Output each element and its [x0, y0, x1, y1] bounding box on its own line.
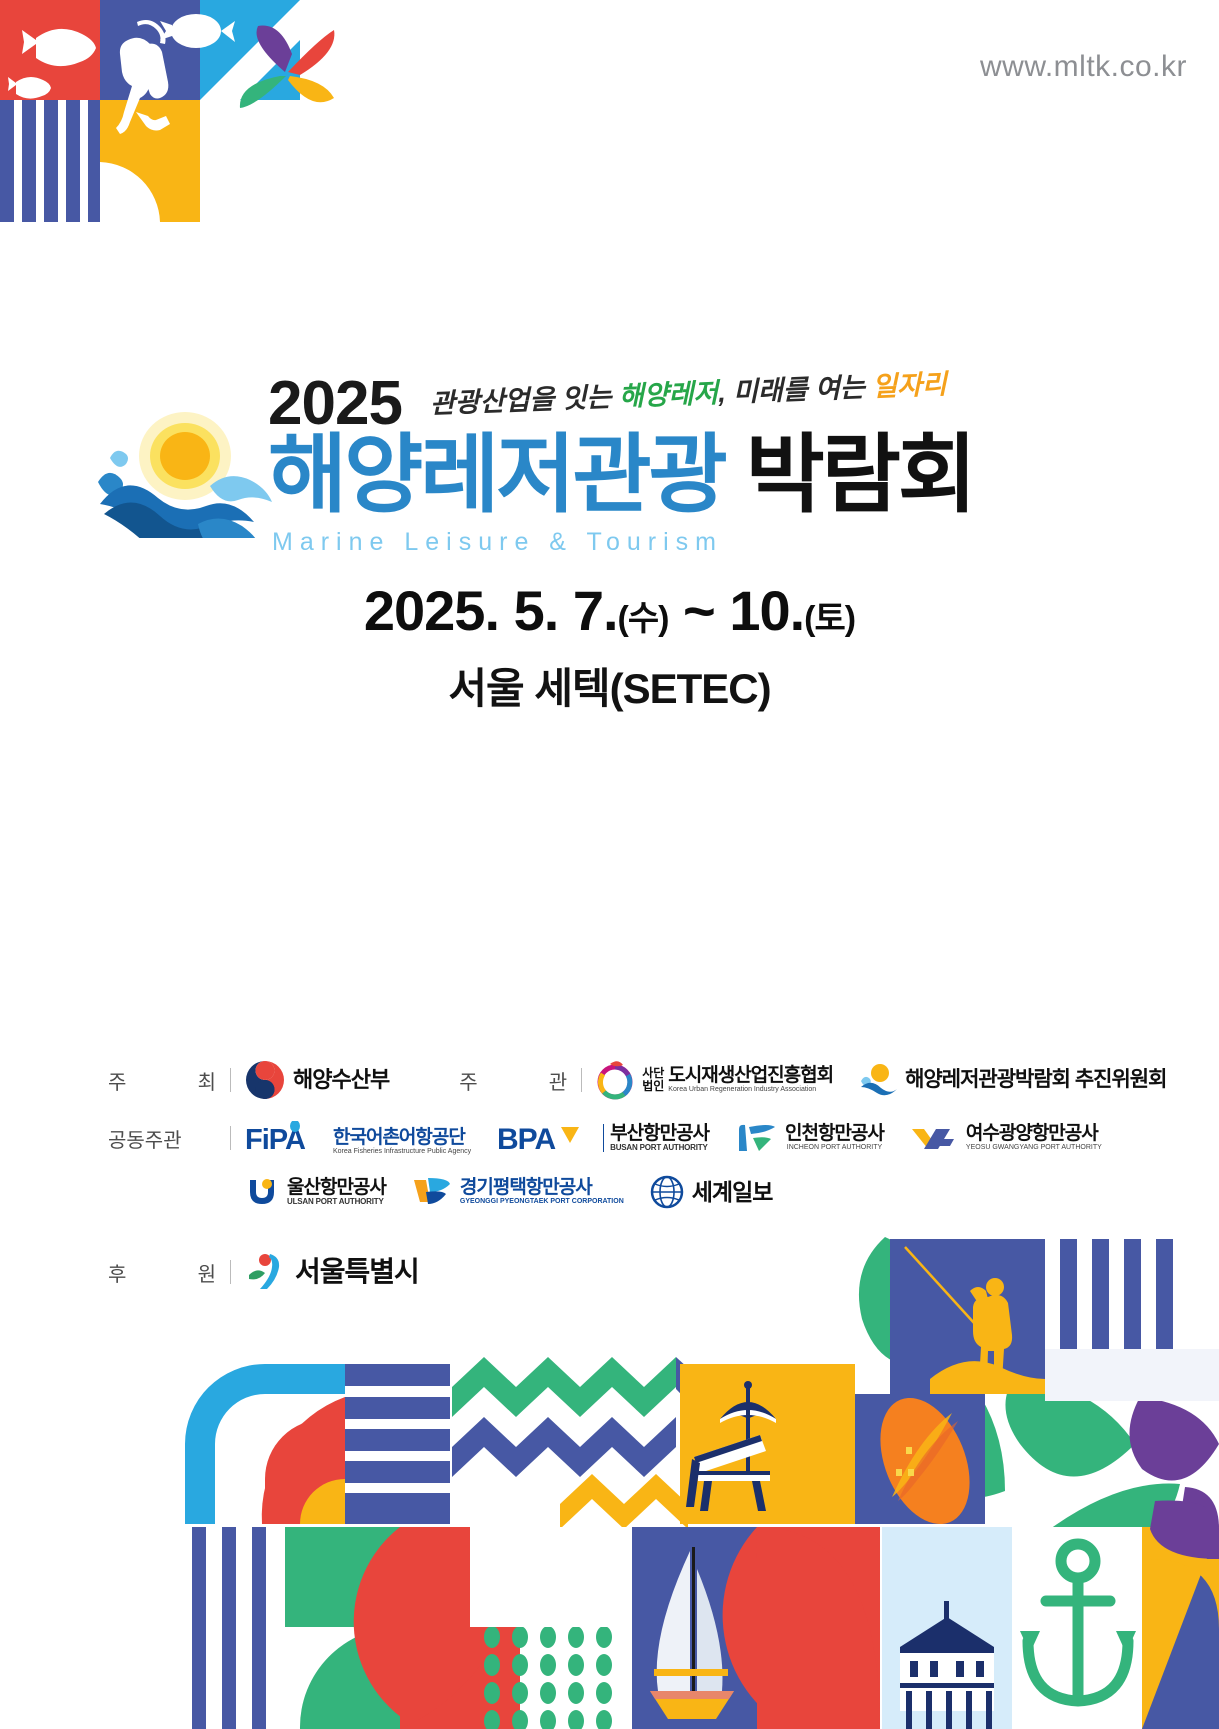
logo-sublabel: YEOSU GWANGYANG PORT AUTHORITY: [966, 1144, 1102, 1151]
logo-label: 도시재생산업진흥협회: [668, 1066, 833, 1086]
logo-label: 해양레저관광박람회 추진위원회: [905, 1069, 1166, 1091]
fipa-icon: FiPA: [245, 1121, 323, 1155]
top-decoration: [0, 0, 340, 222]
logo-label: 해양수산부: [293, 1068, 389, 1091]
swirl-icon: [596, 1060, 634, 1100]
logo-label: 경기평택항만공사: [460, 1178, 624, 1198]
role-divider: [230, 1068, 231, 1092]
logo-yeosu-gwangyang-port-authority[interactable]: 여수광양항만공사 YEOSU GWANGYANG PORT AUTHORITY: [910, 1123, 1102, 1153]
role-divider: [581, 1068, 582, 1092]
logo-fipa[interactable]: FiPA 한국어촌어항공단 Korea Fisheries Infrastruc…: [245, 1121, 471, 1155]
logo-tagline: 관광산업을 잇는 해양레저, 미래를 여는 일자리: [429, 362, 947, 421]
title-primary: 해양레저관광: [268, 427, 725, 523]
logo-label: 세계일보: [692, 1180, 773, 1204]
date-start-weekday: (수): [618, 600, 669, 638]
bottom-decoration: [0, 1229, 1219, 1729]
date-start: 2025. 5. 7.: [364, 579, 618, 642]
date-range-tilde: ~: [668, 579, 729, 642]
website-url[interactable]: www.mltk.co.kr: [980, 50, 1187, 84]
upa-icon: [245, 1176, 279, 1208]
title-secondary: 박람회: [725, 427, 974, 523]
role-label-co-organizer: 공동주관: [108, 1124, 216, 1153]
logo-label: 울산항만공사: [287, 1178, 386, 1198]
taegeuk-icon: [245, 1060, 285, 1100]
logo-label: 인천항만공사: [785, 1124, 884, 1144]
bottom-decoration-svg: [0, 1229, 1219, 1729]
logo-gyeonggi-pyeongtaek-port-corporation[interactable]: 경기평택항만공사 GYEONGGI PYEONGTAEK PORT CORPOR…: [412, 1176, 624, 1208]
bpa-icon: BPA: [497, 1121, 589, 1155]
svg-text:BPA: BPA: [497, 1123, 555, 1155]
role-label-organizer: 주관: [459, 1066, 567, 1095]
logo-prefix: 사단법인: [642, 1067, 664, 1092]
role-divider-spacer: [230, 1180, 231, 1204]
logo-sublabel: BUSAN PORT AUTHORITY: [610, 1144, 709, 1152]
logo-label: 여수광양항만공사: [966, 1124, 1102, 1144]
sun-wave-icon: [859, 1063, 897, 1097]
logo-label: 부산항만공사: [610, 1124, 709, 1144]
logo-sublabel: Korea Fisheries Infrastructure Public Ag…: [333, 1148, 471, 1155]
tagline-highlight-orange: 일자리: [872, 369, 948, 402]
logo-sublabel: GYEONGGI PYEONGTAEK PORT CORPORATION: [460, 1198, 624, 1205]
stripes-pattern: [192, 1527, 266, 1729]
logo-korea-urban-regeneration-industry-association[interactable]: 사단법인 도시재생산업진흥협회 Korea Urban Regeneration…: [596, 1060, 833, 1100]
tagline-part1: 관광산업을 잇는: [430, 382, 620, 419]
logo-ministry-of-oceans-and-fisheries[interactable]: 해양수산부: [245, 1060, 389, 1100]
logo-label: 한국어촌어항공단: [333, 1128, 471, 1148]
organizer-row-co-organizer-2: 울산항만공사 ULSAN PORT AUTHORITY 경기평택항만공사 GYE…: [0, 1168, 1219, 1216]
top-decoration-svg: [0, 0, 340, 222]
date-end: 10.: [729, 579, 804, 642]
event-date: 2025. 5. 7.(수) ~ 10.(토): [0, 578, 1219, 643]
event-venue: 서울 세텍(SETEC): [0, 655, 1219, 716]
logo-subtitle-en: Marine Leisure & Tourism: [272, 528, 723, 557]
page-title: 해양레저관광 박람회: [268, 432, 974, 520]
zigzag-wave-pattern: [452, 1357, 688, 1537]
stripes-pattern: [345, 1364, 450, 1524]
logo-mark: [90, 408, 285, 538]
logo-sublabel: Korea Urban Regeneration Industry Associ…: [668, 1086, 833, 1093]
ipa-icon: [735, 1121, 777, 1155]
logo-sublabel: INCHEON PORT AUTHORITY: [785, 1144, 884, 1151]
gppc-icon: [412, 1176, 452, 1208]
logo-busan-port-authority[interactable]: BPA 부산항만공사 BUSAN PORT AUTHORITY: [497, 1121, 709, 1155]
logo-sublabel: ULSAN PORT AUTHORITY: [287, 1198, 386, 1206]
organizer-row-host: 주최 해양수산부 주관: [0, 1052, 1219, 1108]
tagline-part2: , 미래를 여는: [718, 372, 873, 408]
organizer-row-co-organizer: 공동주관 FiPA 한국어촌어항공단 Korea Fisheries Infra…: [0, 1114, 1219, 1162]
logo-segye-ilbo[interactable]: 세계일보: [650, 1175, 773, 1209]
logo-divider: [603, 1124, 604, 1152]
logo-incheon-port-authority[interactable]: 인천항만공사 INCHEON PORT AUTHORITY: [735, 1121, 884, 1155]
globe-icon: [650, 1175, 684, 1209]
tagline-highlight-green: 해양레저: [618, 378, 718, 412]
role-label-host: 주최: [108, 1066, 216, 1095]
date-end-weekday: (토): [804, 600, 855, 638]
ygpa-icon: [910, 1123, 958, 1153]
logo-marine-leisure-tourism-expo-committee[interactable]: 해양레저관광박람회 추진위원회: [859, 1063, 1166, 1097]
role-divider: [230, 1126, 231, 1150]
logo-ulsan-port-authority[interactable]: 울산항만공사 ULSAN PORT AUTHORITY: [245, 1176, 386, 1208]
event-logo-block: 2025 관광산업을 잇는 해양레저, 미래를 여는 일자리 해양레저관광 박람…: [0, 360, 1219, 570]
